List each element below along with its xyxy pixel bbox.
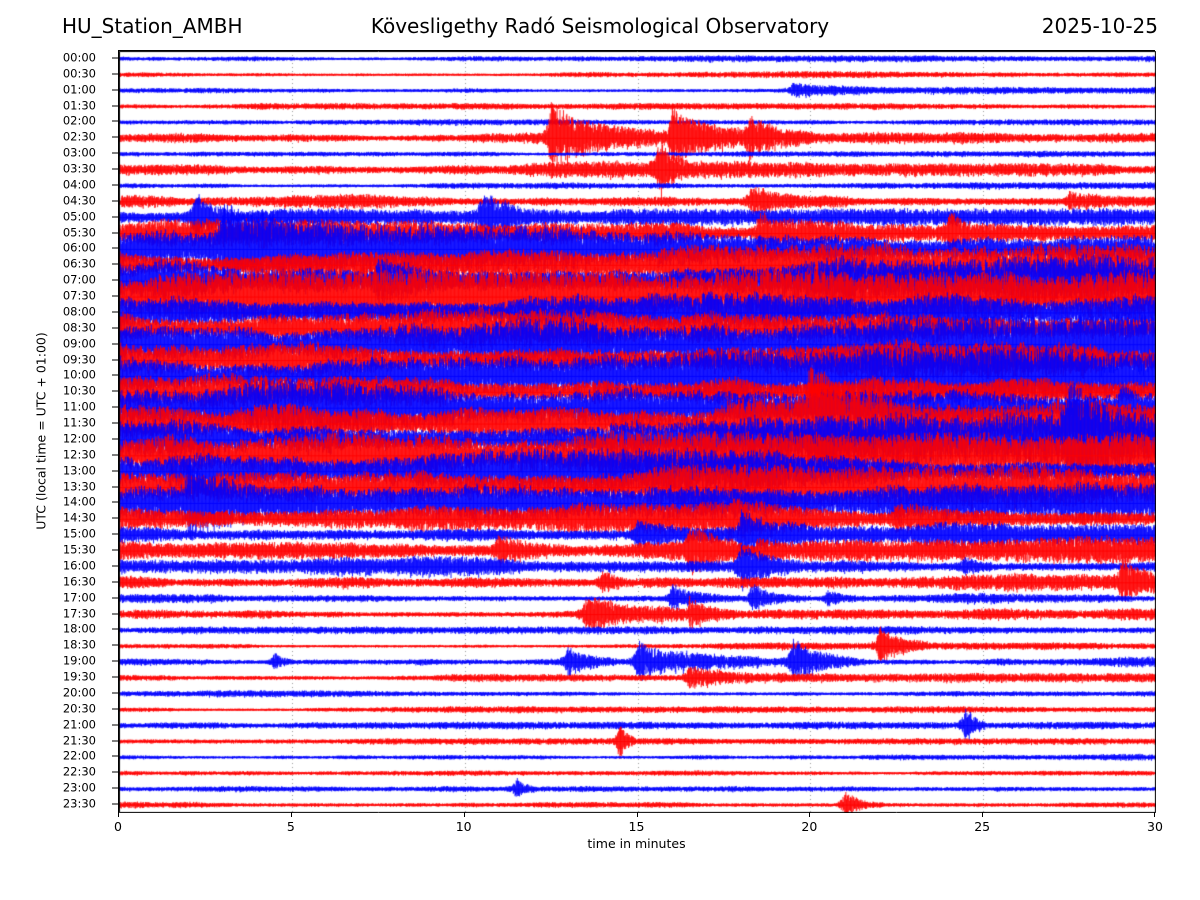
y-axis-tick-label: 11:30: [63, 417, 96, 429]
y-axis-tick-mark: [112, 121, 118, 122]
y-axis-tick-mark: [112, 438, 118, 439]
y-axis-tick-mark: [112, 772, 118, 773]
y-axis-tick-mark: [112, 343, 118, 344]
y-axis-tick-label: 21:00: [63, 719, 96, 731]
y-axis-tick-label: 15:30: [63, 544, 96, 556]
y-axis-tick-mark: [112, 200, 118, 201]
y-axis-tick-mark: [112, 153, 118, 154]
x-axis-tick-label: 10: [456, 820, 472, 834]
y-axis-tick-mark: [112, 550, 118, 551]
x-axis-tick-label: 5: [287, 820, 295, 834]
y-axis-tick-label: 06:00: [63, 243, 96, 255]
x-axis-tick-label: 20: [801, 820, 817, 834]
y-axis-tick-label: 03:00: [63, 147, 96, 159]
y-axis-tick-label: 19:30: [63, 671, 96, 683]
y-axis-tick-label: 12:00: [63, 433, 96, 445]
x-axis-tick-mark: [809, 812, 810, 817]
y-axis-tick-layer: 00:0000:3001:0001:3002:0002:3003:0003:30…: [0, 50, 118, 812]
y-axis-tick-mark: [112, 184, 118, 185]
y-axis-tick-mark: [112, 645, 118, 646]
seismic-trace-canvas: [119, 51, 1156, 813]
y-axis-tick-label: 05:30: [63, 227, 96, 239]
y-axis-tick-mark: [112, 677, 118, 678]
y-axis-tick-label: 06:30: [63, 259, 96, 271]
y-axis-tick-mark: [112, 375, 118, 376]
y-axis-tick-label: 23:30: [63, 798, 96, 810]
y-axis-tick-label: 01:30: [63, 100, 96, 112]
y-axis-tick-mark: [112, 232, 118, 233]
y-axis-tick-label: 17:30: [63, 608, 96, 620]
y-axis-tick-mark: [112, 661, 118, 662]
y-axis-tick-label: 00:30: [63, 68, 96, 80]
y-axis-tick-label: 04:30: [63, 195, 96, 207]
helicorder-plot-area: [118, 50, 1155, 812]
x-axis-tick-mark: [1154, 812, 1155, 817]
y-axis-tick-label: 13:30: [63, 481, 96, 493]
y-axis-tick-mark: [112, 57, 118, 58]
y-axis-tick-label: 20:00: [63, 687, 96, 699]
y-axis-tick-label: 10:30: [63, 386, 96, 398]
y-axis-title-text: UTC (local time = UTC + 01:00): [34, 332, 49, 530]
y-axis-tick-label: 03:30: [63, 163, 96, 175]
y-axis-tick-mark: [112, 454, 118, 455]
x-axis-title: time in minutes: [118, 836, 1155, 851]
y-axis-tick-label: 07:00: [63, 274, 96, 286]
y-axis-tick-label: 18:30: [63, 640, 96, 652]
y-axis-tick-mark: [112, 137, 118, 138]
y-axis-tick-label: 17:00: [63, 592, 96, 604]
y-axis-tick-mark: [112, 407, 118, 408]
y-axis-tick-label: 16:00: [63, 560, 96, 572]
x-axis-tick-mark: [291, 812, 292, 817]
y-axis-tick-mark: [112, 264, 118, 265]
y-axis-tick-label: 10:00: [63, 370, 96, 382]
seismogram-figure: HU_Station_AMBH Kövesligethy Radó Seismo…: [0, 0, 1200, 900]
y-axis-tick-mark: [112, 311, 118, 312]
y-axis-tick-mark: [112, 804, 118, 805]
y-axis-tick-label: 22:00: [63, 751, 96, 763]
y-axis-tick-label: 16:30: [63, 576, 96, 588]
y-axis-tick-label: 20:30: [63, 703, 96, 715]
y-axis-tick-mark: [112, 296, 118, 297]
y-axis-tick-label: 00:00: [63, 52, 96, 64]
y-axis-tick-mark: [112, 788, 118, 789]
y-axis-tick-label: 02:30: [63, 132, 96, 144]
y-axis-tick-mark: [112, 518, 118, 519]
y-axis-tick-mark: [112, 534, 118, 535]
y-axis-tick-mark: [112, 423, 118, 424]
y-axis-tick-label: 09:30: [63, 354, 96, 366]
y-axis-tick-mark: [112, 89, 118, 90]
y-axis-tick-label: 22:30: [63, 767, 96, 779]
x-axis-tick-label: 25: [974, 820, 990, 834]
y-axis-tick-mark: [112, 581, 118, 582]
y-axis-tick-mark: [112, 248, 118, 249]
x-axis-tick-mark: [637, 812, 638, 817]
y-axis-tick-label: 08:30: [63, 322, 96, 334]
y-axis-tick-label: 02:00: [63, 116, 96, 128]
y-axis-tick-label: 07:30: [63, 290, 96, 302]
y-axis-tick-mark: [112, 740, 118, 741]
y-axis-tick-label: 23:00: [63, 782, 96, 794]
y-axis-tick-label: 04:00: [63, 179, 96, 191]
y-axis-tick-label: 05:00: [63, 211, 96, 223]
y-axis-tick-label: 01:00: [63, 84, 96, 96]
y-axis-tick-label: 14:30: [63, 513, 96, 525]
x-axis-tick-mark: [464, 812, 465, 817]
y-axis-tick-mark: [112, 486, 118, 487]
observatory-title: Kövesligethy Radó Seismological Observat…: [0, 13, 1200, 39]
y-axis-tick-label: 08:00: [63, 306, 96, 318]
y-axis-tick-label: 11:00: [63, 401, 96, 413]
y-axis-tick-mark: [112, 692, 118, 693]
y-axis-tick-mark: [112, 391, 118, 392]
y-axis-tick-mark: [112, 105, 118, 106]
y-axis-tick-label: 14:00: [63, 497, 96, 509]
y-axis-tick-label: 12:30: [63, 449, 96, 461]
y-axis-tick-mark: [112, 756, 118, 757]
y-axis-tick-label: 21:30: [63, 735, 96, 747]
y-axis-tick-label: 19:00: [63, 655, 96, 667]
y-axis-tick-mark: [112, 565, 118, 566]
y-axis-tick-mark: [112, 216, 118, 217]
x-axis-tick-label: 15: [629, 820, 645, 834]
y-axis-tick-mark: [112, 327, 118, 328]
y-axis-tick-mark: [112, 359, 118, 360]
y-axis-tick-mark: [112, 73, 118, 74]
x-axis-tick-label: 30: [1147, 820, 1163, 834]
y-axis-tick-mark: [112, 597, 118, 598]
y-axis-tick-mark: [112, 613, 118, 614]
y-axis-tick-mark: [112, 708, 118, 709]
y-axis-tick-mark: [112, 724, 118, 725]
x-axis-tick-mark: [982, 812, 983, 817]
y-axis-tick-label: 09:00: [63, 338, 96, 350]
y-axis-tick-label: 18:00: [63, 624, 96, 636]
x-axis-tick-mark: [118, 812, 119, 817]
record-date-label: 2025-10-25: [1042, 13, 1158, 39]
y-axis-tick-mark: [112, 470, 118, 471]
y-axis-tick-label: 13:00: [63, 465, 96, 477]
y-axis-tick-mark: [112, 280, 118, 281]
y-axis-tick-label: 15:00: [63, 528, 96, 540]
x-axis-tick-label: 0: [114, 820, 122, 834]
y-axis-tick-mark: [112, 629, 118, 630]
y-axis-tick-mark: [112, 502, 118, 503]
y-axis-tick-mark: [112, 169, 118, 170]
